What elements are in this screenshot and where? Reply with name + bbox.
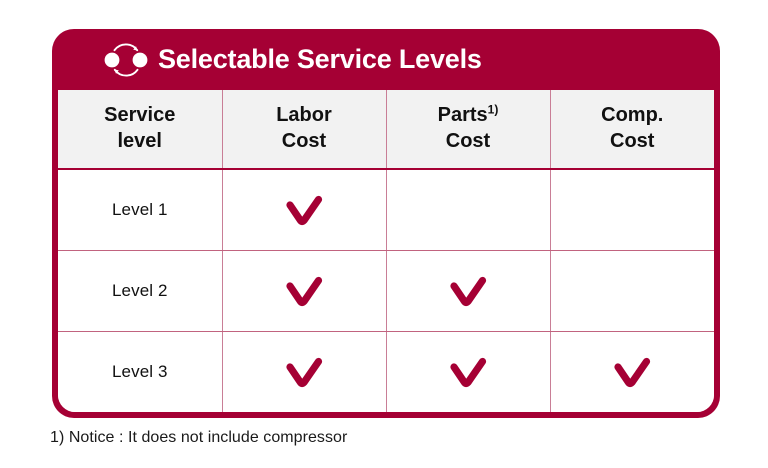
- column-header-line1: Comp.: [601, 104, 663, 126]
- footnote-marker: 1): [488, 103, 499, 117]
- cell-labor-cost: [222, 251, 386, 332]
- table-row: Level 2: [58, 251, 714, 332]
- cell-parts-cost: [386, 251, 550, 332]
- level-label: Level 2: [112, 281, 168, 300]
- level-label: Level 3: [112, 362, 168, 381]
- column-header-line1: Service: [104, 104, 175, 126]
- column-header-labor-cost: Labor Cost: [222, 90, 386, 169]
- check-icon: [285, 193, 323, 227]
- check-icon: [449, 274, 487, 308]
- card-title: Selectable Service Levels: [158, 46, 482, 73]
- cell-parts-cost: [386, 169, 550, 251]
- service-levels-card: Selectable Service Levels Service level …: [52, 29, 720, 418]
- cell-comp-cost: [550, 251, 714, 332]
- column-header-line1: Labor: [276, 104, 332, 126]
- table-row: Level 1: [58, 169, 714, 251]
- card-header: Selectable Service Levels: [52, 29, 720, 90]
- column-header-line2: Cost: [282, 130, 326, 152]
- service-levels-table: Service level Labor Cost Parts1) Cost: [58, 90, 714, 412]
- column-header-line1: Parts: [438, 104, 488, 126]
- column-header-parts-cost: Parts1) Cost: [386, 90, 550, 169]
- level-label: Level 1: [112, 200, 168, 219]
- column-header-line2: Cost: [610, 130, 654, 152]
- column-header-service-level: Service level: [58, 90, 222, 169]
- service-levels-table-wrap: Service level Labor Cost Parts1) Cost: [58, 90, 714, 412]
- cell-labor-cost: [222, 332, 386, 413]
- check-icon: [285, 274, 323, 308]
- cell-comp-cost: [550, 169, 714, 251]
- check-icon: [285, 355, 323, 389]
- cell-level-name: Level 3: [58, 332, 222, 413]
- cell-labor-cost: [222, 169, 386, 251]
- table-header-row: Service level Labor Cost Parts1) Cost: [58, 90, 714, 169]
- column-header-comp-cost: Comp. Cost: [550, 90, 714, 169]
- cell-level-name: Level 2: [58, 251, 222, 332]
- table-row: Level 3: [58, 332, 714, 413]
- cell-level-name: Level 1: [58, 169, 222, 251]
- column-header-line2: Cost: [446, 130, 490, 152]
- cycle-arrows-icon: [102, 43, 150, 77]
- table-body: Level 1 Level 2 Level 3: [58, 169, 714, 412]
- footnote-text: 1) Notice : It does not include compress…: [50, 429, 347, 447]
- cell-parts-cost: [386, 332, 550, 413]
- cell-comp-cost: [550, 332, 714, 413]
- check-icon: [613, 355, 651, 389]
- column-header-line2: level: [118, 130, 162, 152]
- screenshot-root: Selectable Service Levels Service level …: [0, 0, 768, 468]
- check-icon: [449, 355, 487, 389]
